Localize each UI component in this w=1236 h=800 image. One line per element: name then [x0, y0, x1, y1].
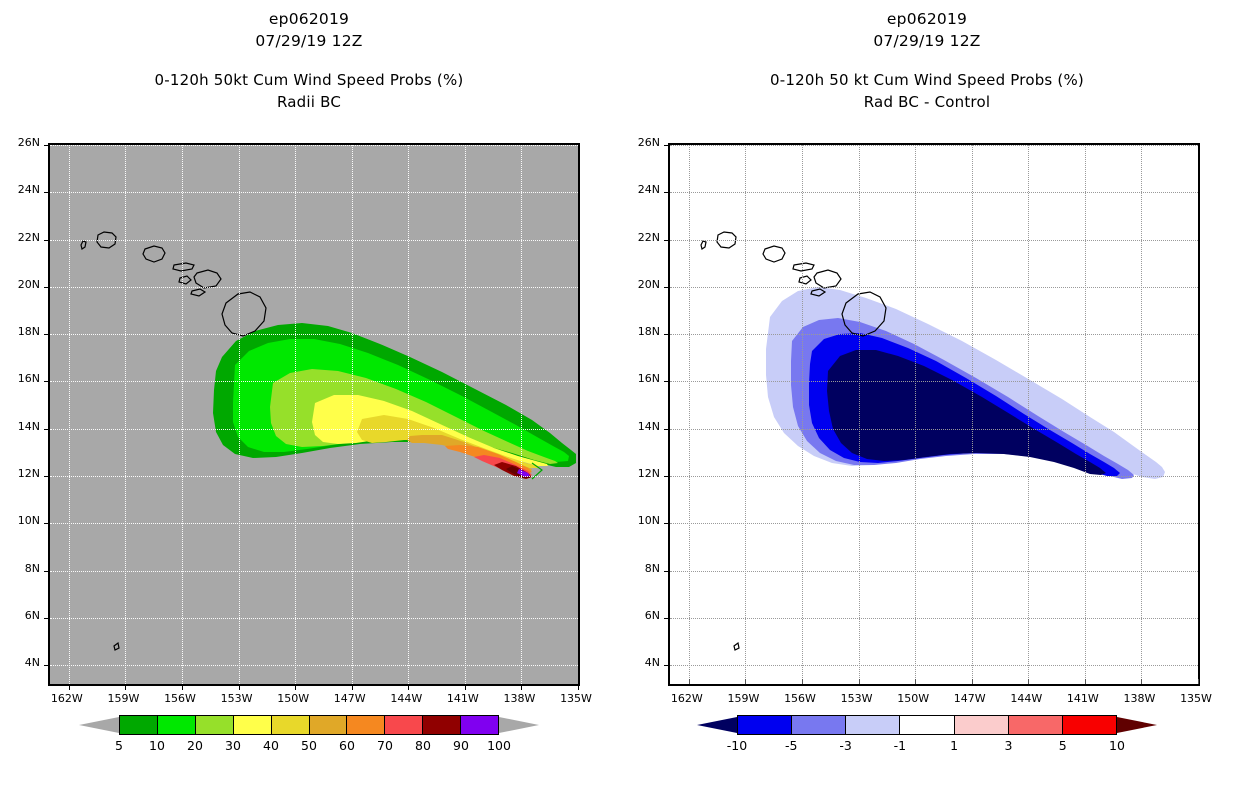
axis-label-lon: 156W	[160, 692, 200, 705]
axis-label-lat: 14N	[620, 420, 660, 433]
tick-lon	[295, 684, 296, 690]
panel-radii-bc: ep062019 07/29/19 12Z 0-120h 50kt Cum Wi…	[0, 0, 618, 800]
tick-lat	[44, 618, 50, 619]
gridline-lon	[972, 145, 973, 684]
gridline-lon	[1028, 145, 1029, 684]
gridline-lon	[802, 145, 803, 684]
axis-label-lon: 135W	[1176, 692, 1216, 705]
island-hawaii	[222, 292, 266, 336]
axis-label-lat: 10N	[620, 514, 660, 527]
left-subtitle: Radii BC	[0, 93, 618, 111]
axis-label-lon: 162W	[667, 692, 707, 705]
gridline-lon	[352, 145, 353, 684]
colorbar-tick-label: -3	[826, 738, 866, 753]
gridline-lat	[670, 571, 1198, 572]
tick-lat	[664, 665, 670, 666]
axis-label-lon: 153W	[837, 692, 877, 705]
left-colorbar-block: 5102030405060708090100	[0, 714, 618, 756]
tick-lon	[239, 684, 240, 690]
right-colorbar-block: -10-5-3-113510	[618, 714, 1236, 756]
left-islands-layer	[50, 145, 578, 684]
axis-label-lat: 8N	[0, 562, 40, 575]
axis-label-lon: 141W	[443, 692, 483, 705]
island-lanai	[799, 276, 811, 284]
colorbar-cell	[158, 716, 196, 734]
tick-lon	[1141, 679, 1142, 684]
gridline-lon	[295, 145, 296, 684]
gridline-lat	[670, 618, 1198, 619]
axis-label-lat: 20N	[620, 278, 660, 291]
tick-lat	[664, 618, 670, 619]
colorbar-tick-label: -5	[771, 738, 811, 753]
island-oahu	[143, 246, 165, 262]
colorbar-tick-label: 1	[934, 738, 974, 753]
axis-label-lon: 138W	[499, 692, 539, 705]
tick-lon	[745, 679, 746, 684]
colorbar-tick-label: -1	[880, 738, 920, 753]
tick-lon	[352, 684, 353, 690]
colorbar-cell	[1009, 716, 1063, 734]
island-molokai	[793, 263, 814, 271]
island-kahoolawe	[811, 289, 825, 296]
axis-label-lat: 22N	[620, 231, 660, 244]
axis-label-lat: 16N	[0, 372, 40, 385]
tick-lon	[69, 684, 70, 690]
tick-lon	[578, 684, 579, 690]
right-plot-area	[670, 145, 1198, 684]
gridline-lat	[50, 618, 578, 619]
tick-lon	[125, 684, 126, 690]
axis-label-lon: 159W	[103, 692, 143, 705]
axis-label-lat: 4N	[0, 656, 40, 669]
island-molokai	[173, 263, 194, 271]
colorbar-tick-label: 5	[1043, 738, 1083, 753]
gridline-lon	[1141, 145, 1142, 684]
tick-lat	[44, 571, 50, 572]
colorbar-cell	[120, 716, 158, 734]
gridline-lat	[50, 192, 578, 193]
axis-label-lon: 150W	[893, 692, 933, 705]
gridline-lat	[50, 523, 578, 524]
right-title: 0-120h 50 kt Cum Wind Speed Probs (%)	[618, 71, 1236, 89]
left-storm-id: ep062019	[0, 10, 618, 28]
gridline-lon	[521, 145, 522, 684]
tick-lat	[44, 192, 50, 193]
axis-label-lat: 14N	[0, 420, 40, 433]
colorbar-cells	[119, 715, 499, 735]
gridline-lon	[69, 145, 70, 684]
gridline-lon	[745, 145, 746, 684]
colorbar-tick-label: 5	[99, 738, 139, 753]
island-hawaii	[842, 292, 886, 336]
tick-lat	[664, 571, 670, 572]
island-oahu	[763, 246, 785, 262]
tick-lat	[44, 665, 50, 666]
axis-label-lat: 8N	[620, 562, 660, 575]
tick-lat	[44, 145, 50, 146]
gridline-lat	[50, 145, 578, 146]
tick-lat	[44, 429, 50, 430]
left-datetime: 07/29/19 12Z	[0, 32, 618, 50]
right-datetime: 07/29/19 12Z	[618, 32, 1236, 50]
tick-lon	[802, 679, 803, 684]
colorbar-low-cap	[697, 715, 737, 735]
left-plot-area	[50, 145, 578, 684]
colorbar-cell	[272, 716, 310, 734]
gridline-lat	[670, 287, 1198, 288]
tick-lat	[664, 523, 670, 524]
axis-label-lon: 138W	[1119, 692, 1159, 705]
colorbar-tick-label: 80	[403, 738, 443, 753]
axis-label-lat: 16N	[620, 372, 660, 385]
gridline-lon	[689, 145, 690, 684]
tick-lat	[44, 240, 50, 241]
colorbar-tick-label: 20	[175, 738, 215, 753]
tick-lat	[664, 287, 670, 288]
tick-lat	[44, 287, 50, 288]
tick-lat	[44, 476, 50, 477]
colorbar-tick-label: 40	[251, 738, 291, 753]
colorbar-cell	[385, 716, 423, 734]
island-niihau	[81, 241, 86, 249]
gridline-lat	[670, 145, 1198, 146]
gridline-lon	[125, 145, 126, 684]
wind-speed-probability-figure: ep062019 07/29/19 12Z 0-120h 50kt Cum Wi…	[0, 0, 1236, 800]
colorbar-cell	[310, 716, 348, 734]
axis-label-lat: 20N	[0, 278, 40, 291]
tick-lon	[915, 679, 916, 684]
gridline-lat	[50, 334, 578, 335]
axis-label-lat: 26N	[0, 136, 40, 149]
tick-lat	[664, 192, 670, 193]
right-storm-id: ep062019	[618, 10, 1236, 28]
colorbar-cell	[900, 716, 954, 734]
gridline-lat	[50, 429, 578, 430]
left-title-block: ep062019 07/29/19 12Z 0-120h 50kt Cum Wi…	[0, 0, 618, 111]
right-islands-layer	[670, 145, 1198, 684]
colorbar-tick-label: 60	[327, 738, 367, 753]
colorbar-low-cap	[79, 715, 119, 735]
colorbar-tick-labels: 5102030405060708090100	[79, 738, 539, 756]
axis-label-lat: 24N	[620, 183, 660, 196]
colorbar-high-cap	[1117, 715, 1157, 735]
axis-label-lon: 135W	[556, 692, 596, 705]
tick-lat	[44, 334, 50, 335]
gridline-lon	[915, 145, 916, 684]
axis-label-lat: 10N	[0, 514, 40, 527]
colorbar-cell	[846, 716, 900, 734]
right-map-frame	[668, 143, 1200, 686]
colorbar-tick-label: 70	[365, 738, 405, 753]
axis-label-lon: 147W	[950, 692, 990, 705]
gridline-lat	[50, 240, 578, 241]
axis-label-lat: 26N	[620, 136, 660, 149]
panel-rad-bc-minus-control: ep062019 07/29/19 12Z 0-120h 50 kt Cum W…	[618, 0, 1236, 800]
tick-lon	[465, 684, 466, 690]
colorbar-tick-label: 50	[289, 738, 329, 753]
colorbar-cell	[792, 716, 846, 734]
tick-lon	[408, 684, 409, 690]
axis-label-lon: 144W	[1006, 692, 1046, 705]
gridline-lat	[50, 476, 578, 477]
island-kahoolawe	[191, 289, 205, 296]
gridline-lat	[670, 476, 1198, 477]
colorbar-tick-label: -10	[717, 738, 757, 753]
axis-label-lat: 12N	[0, 467, 40, 480]
tick-lat	[664, 145, 670, 146]
tick-lat	[44, 381, 50, 382]
axis-label-lon: 141W	[1063, 692, 1103, 705]
tick-lat	[44, 523, 50, 524]
tick-lon	[689, 679, 690, 684]
tick-lat	[664, 429, 670, 430]
colorbar-cell	[1063, 716, 1116, 734]
axis-label-lon: 159W	[723, 692, 763, 705]
tick-lon	[182, 684, 183, 690]
tick-lon	[521, 684, 522, 690]
colorbar-tick-label: 3	[988, 738, 1028, 753]
axis-label-lat: 18N	[0, 325, 40, 338]
axis-label-lat: 6N	[0, 609, 40, 622]
gridline-lat	[670, 240, 1198, 241]
axis-label-lon: 147W	[330, 692, 370, 705]
axis-label-lat: 6N	[620, 609, 660, 622]
probability-colorbar	[79, 714, 539, 736]
colorbar-cell	[955, 716, 1009, 734]
gridline-lat	[50, 665, 578, 666]
colorbar-cell	[347, 716, 385, 734]
gridline-lat	[670, 192, 1198, 193]
colorbar-tick-label: 10	[1097, 738, 1137, 753]
tick-lon	[859, 679, 860, 684]
colorbar-cell	[738, 716, 792, 734]
gridline-lon	[182, 145, 183, 684]
axis-label-lat: 22N	[0, 231, 40, 244]
left-map-frame	[48, 143, 580, 686]
axis-label-lon: 162W	[47, 692, 87, 705]
island-maui	[194, 270, 221, 288]
island-johnston-atoll	[734, 643, 739, 650]
axis-label-lon: 153W	[217, 692, 257, 705]
gridline-lon	[465, 145, 466, 684]
axis-label-lat: 4N	[620, 656, 660, 669]
gridline-lat	[50, 571, 578, 572]
axis-label-lat: 18N	[620, 325, 660, 338]
left-title: 0-120h 50kt Cum Wind Speed Probs (%)	[0, 71, 618, 89]
gridline-lat	[670, 429, 1198, 430]
colorbar-tick-label: 90	[441, 738, 481, 753]
colorbar-cell	[196, 716, 234, 734]
tick-lon	[1198, 679, 1199, 684]
colorbar-tick-labels: -10-5-3-113510	[697, 738, 1157, 756]
gridline-lon	[1085, 145, 1086, 684]
tick-lat	[664, 240, 670, 241]
colorbar-tick-label: 100	[479, 738, 519, 753]
island-niihau	[701, 241, 706, 249]
gridline-lat	[670, 523, 1198, 524]
gridline-lat	[670, 381, 1198, 382]
axis-label-lat: 24N	[0, 183, 40, 196]
tick-lon	[1085, 679, 1086, 684]
right-subtitle: Rad BC - Control	[618, 93, 1236, 111]
gridline-lat	[50, 287, 578, 288]
axis-label-lon: 144W	[386, 692, 426, 705]
axis-label-lon: 156W	[780, 692, 820, 705]
island-maui	[814, 270, 841, 288]
tick-lat	[664, 381, 670, 382]
colorbar-high-cap	[499, 715, 539, 735]
right-title-block: ep062019 07/29/19 12Z 0-120h 50 kt Cum W…	[618, 0, 1236, 111]
gridline-lat	[670, 334, 1198, 335]
tick-lon	[1028, 679, 1029, 684]
colorbar-cells	[737, 715, 1117, 735]
colorbar-cell	[461, 716, 498, 734]
axis-label-lon: 150W	[273, 692, 313, 705]
tick-lat	[664, 334, 670, 335]
axis-label-lat: 12N	[620, 467, 660, 480]
gridline-lon	[859, 145, 860, 684]
colorbar-cell	[423, 716, 461, 734]
gridline-lon	[408, 145, 409, 684]
tick-lat	[664, 476, 670, 477]
difference-colorbar	[697, 714, 1157, 736]
tick-lon	[972, 679, 973, 684]
island-lanai	[179, 276, 191, 284]
gridline-lon	[239, 145, 240, 684]
colorbar-tick-label: 10	[137, 738, 177, 753]
colorbar-tick-label: 30	[213, 738, 253, 753]
colorbar-cell	[234, 716, 272, 734]
island-johnston-atoll	[114, 643, 119, 650]
gridline-lat	[670, 665, 1198, 666]
gridline-lat	[50, 381, 578, 382]
